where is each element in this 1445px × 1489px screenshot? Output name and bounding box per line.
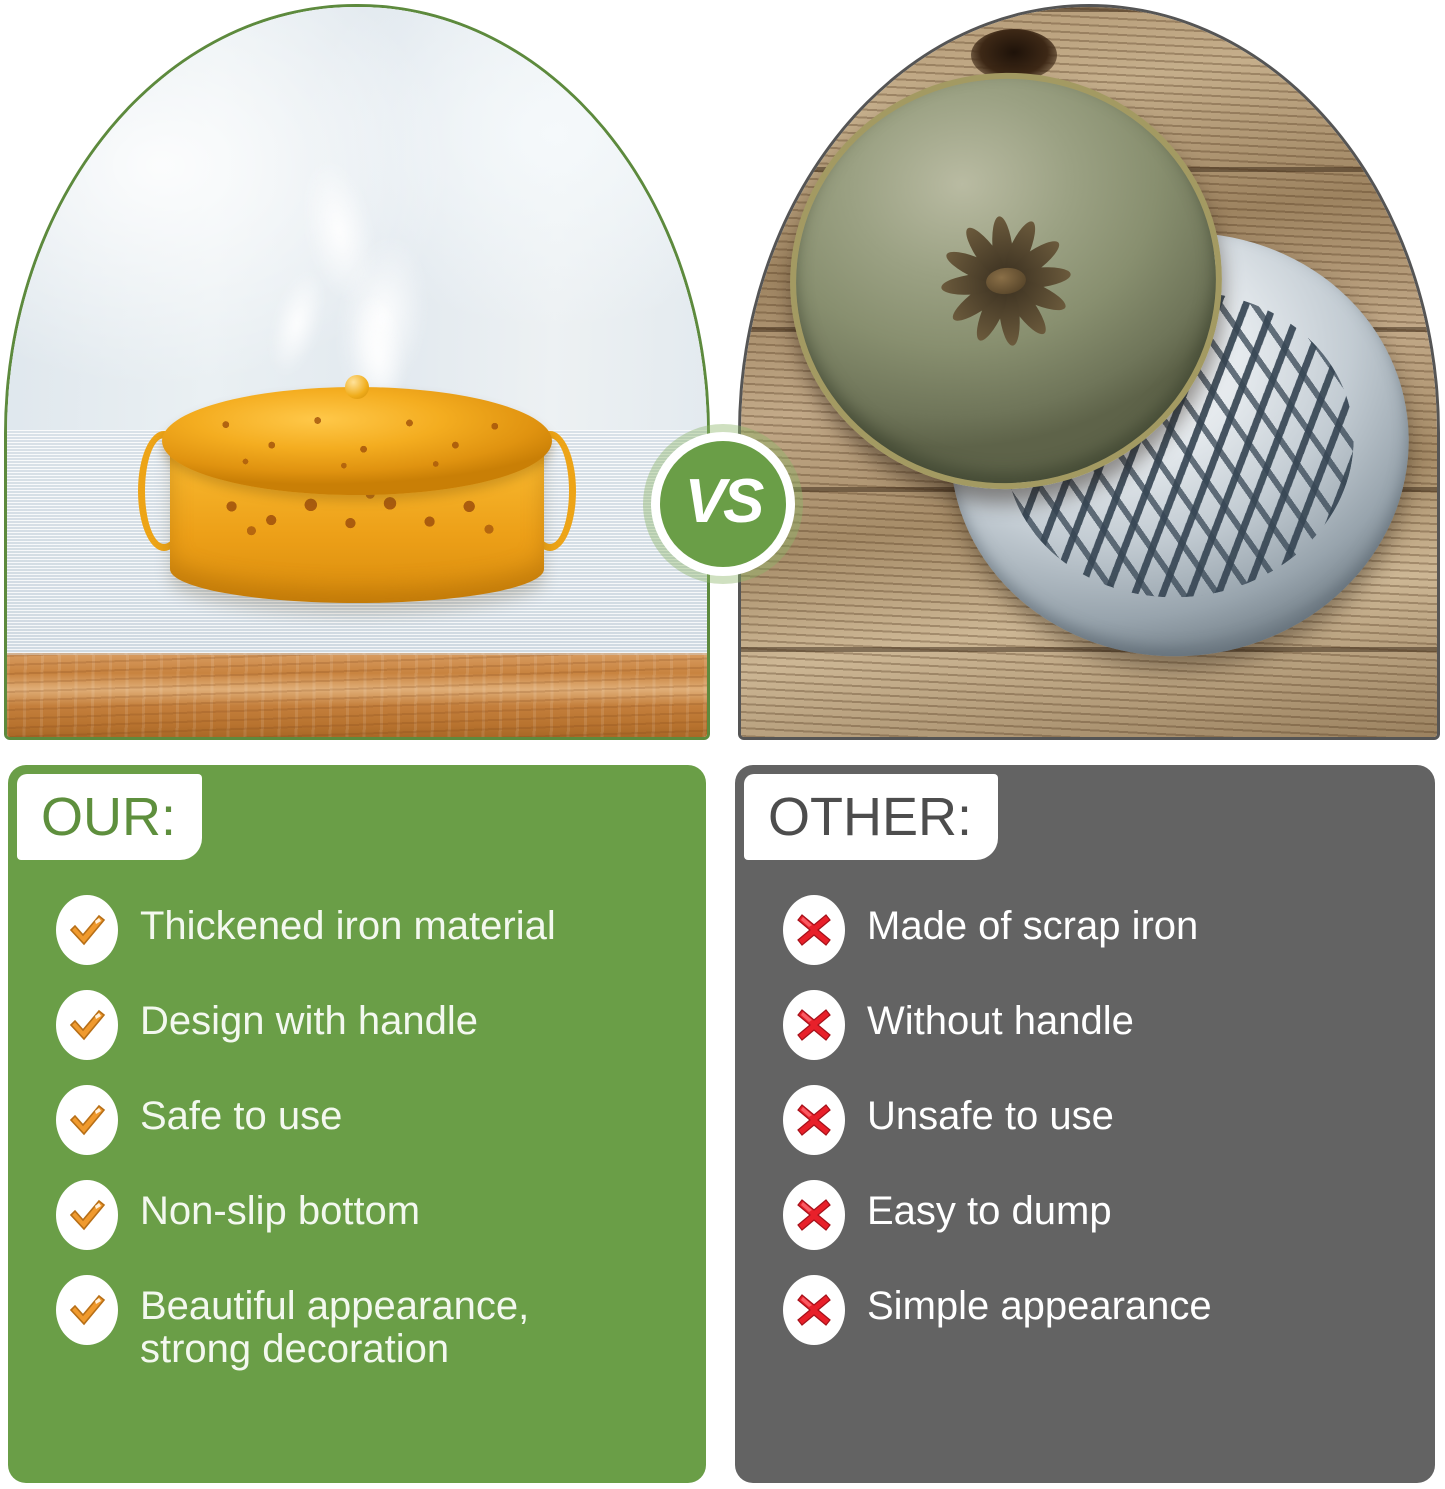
other-panel-header: OTHER: — [744, 774, 998, 860]
holder-knob — [345, 375, 369, 399]
list-item-label: Unsafe to use — [867, 1085, 1114, 1138]
versus-badge-icon: VS — [651, 432, 795, 576]
orange-check-icon — [56, 1275, 118, 1345]
list-item-label: Thickened iron material — [140, 895, 556, 948]
comparison-infographic: VS OUR: Thickened iron material — [0, 0, 1445, 1489]
list-item: Without handle — [783, 990, 1415, 1064]
list-item: Safe to use — [56, 1085, 686, 1159]
list-item-label: Without handle — [867, 990, 1134, 1043]
versus-label: VS — [685, 471, 762, 533]
other-photo-arch-frame — [738, 4, 1440, 740]
metal-petal-lid — [769, 51, 1242, 510]
other-comparison-panel: OTHER: Made of scrap iron — [735, 765, 1435, 1483]
list-item: Design with handle — [56, 990, 686, 1064]
list-item: Made of scrap iron — [783, 895, 1415, 969]
wooden-table-edge — [7, 653, 707, 737]
list-item: Thickened iron material — [56, 895, 686, 969]
list-item-label: Design with handle — [140, 990, 478, 1043]
list-item: Unsafe to use — [783, 1085, 1415, 1159]
petal-cutout-pattern — [776, 58, 1235, 504]
red-cross-icon — [783, 990, 845, 1060]
holder-lid — [162, 387, 552, 495]
red-cross-icon — [783, 1085, 845, 1155]
our-panel-title: OUR: — [41, 790, 176, 844]
orange-check-icon — [56, 1180, 118, 1250]
our-feature-list: Thickened iron material Design with hand… — [8, 895, 706, 1371]
yellow-coil-holder — [142, 357, 572, 657]
list-item-label: Beautiful appearance, strong decoration — [140, 1275, 529, 1371]
our-photo-scene — [7, 7, 707, 737]
our-panel-header: OUR: — [17, 774, 202, 860]
our-product-photo — [4, 4, 710, 740]
other-panel-title: OTHER: — [768, 790, 972, 844]
orange-check-icon — [56, 895, 118, 965]
other-photo-scene — [741, 7, 1437, 737]
our-photo-arch-frame — [4, 4, 710, 740]
list-item-label: Non-slip bottom — [140, 1180, 420, 1233]
orange-check-icon — [56, 990, 118, 1060]
red-cross-icon — [783, 1180, 845, 1250]
list-item: Beautiful appearance, strong decoration — [56, 1275, 686, 1371]
list-item-label: Safe to use — [140, 1085, 342, 1138]
orange-check-icon — [56, 1085, 118, 1155]
our-comparison-panel: OUR: Thickened iron material — [8, 765, 706, 1483]
red-cross-icon — [783, 895, 845, 965]
list-item: Easy to dump — [783, 1180, 1415, 1254]
list-item-label: Simple appearance — [867, 1275, 1212, 1328]
list-item-label: Made of scrap iron — [867, 895, 1198, 948]
red-cross-icon — [783, 1275, 845, 1345]
other-product-photo — [738, 4, 1440, 740]
other-feature-list: Made of scrap iron Without handle — [735, 895, 1435, 1349]
list-item: Non-slip bottom — [56, 1180, 686, 1254]
list-item: Simple appearance — [783, 1275, 1415, 1349]
list-item-label: Easy to dump — [867, 1180, 1112, 1233]
